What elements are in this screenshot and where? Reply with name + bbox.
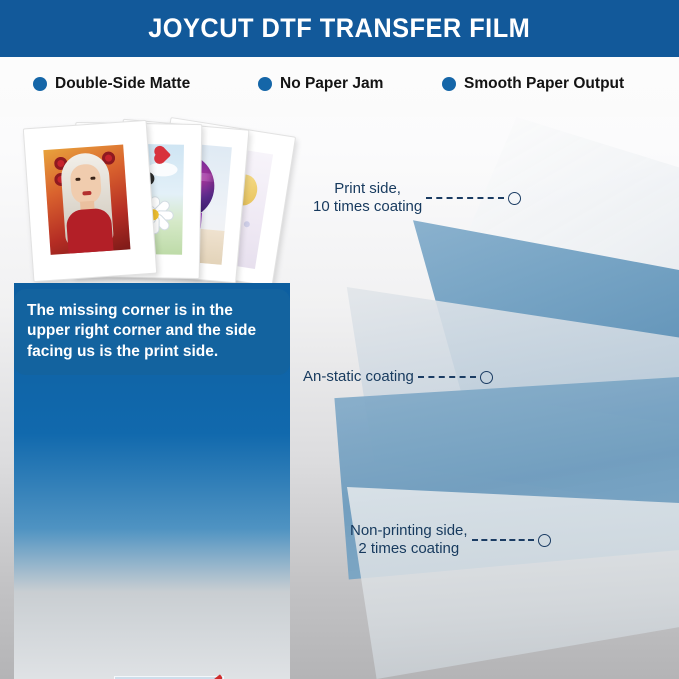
heart-icon [156, 147, 172, 163]
red-dress-icon [66, 208, 114, 255]
face-icon [69, 163, 102, 205]
page-title: JOYCUT DTF TRANSFER FILM [148, 13, 530, 44]
artwork-portrait-woman [43, 145, 130, 255]
callout-label: Print side, 10 times coating [313, 180, 422, 217]
feature-label: Double-Side Matte [55, 75, 190, 93]
eye-icon [90, 177, 95, 180]
callout-non-printing-side: Non-printing side, 2 times coating [350, 522, 551, 559]
header-banner: JOYCUT DTF TRANSFER FILM [0, 0, 679, 57]
eye-icon [75, 178, 80, 181]
leader-line [426, 197, 504, 199]
confetti-dot-icon [243, 221, 250, 228]
cut-corner-marker-icon [198, 673, 222, 679]
bullet-dot-icon [33, 77, 47, 91]
callout-label: An-static coating [303, 368, 414, 386]
ring-marker-icon [508, 192, 521, 205]
printer-demo-panel: The missing corner is in the upper right… [14, 283, 290, 679]
ring-marker-icon [538, 534, 551, 547]
callout-print-side: Print side, 10 times coating [313, 180, 521, 217]
leader-line [472, 539, 534, 541]
ring-marker-icon [480, 371, 493, 384]
sample-print-stack [8, 120, 308, 280]
product-infographic: JOYCUT DTF TRANSFER FILM Double-Side Mat… [0, 0, 679, 679]
feature-item-double-side-matte: Double-Side Matte [33, 75, 190, 93]
callout-label: Non-printing side, 2 times coating [350, 522, 468, 559]
sample-sheet-portrait [23, 120, 157, 282]
film-sheet-bottom [310, 487, 679, 679]
instruction-text: The missing corner is in the upper right… [27, 301, 277, 362]
lips-icon [82, 191, 91, 196]
bullet-dot-icon [258, 77, 272, 91]
leader-line [418, 376, 476, 378]
instruction-callout-box: The missing corner is in the upper right… [14, 289, 290, 375]
callout-an-static-coating: An-static coating [303, 368, 493, 386]
